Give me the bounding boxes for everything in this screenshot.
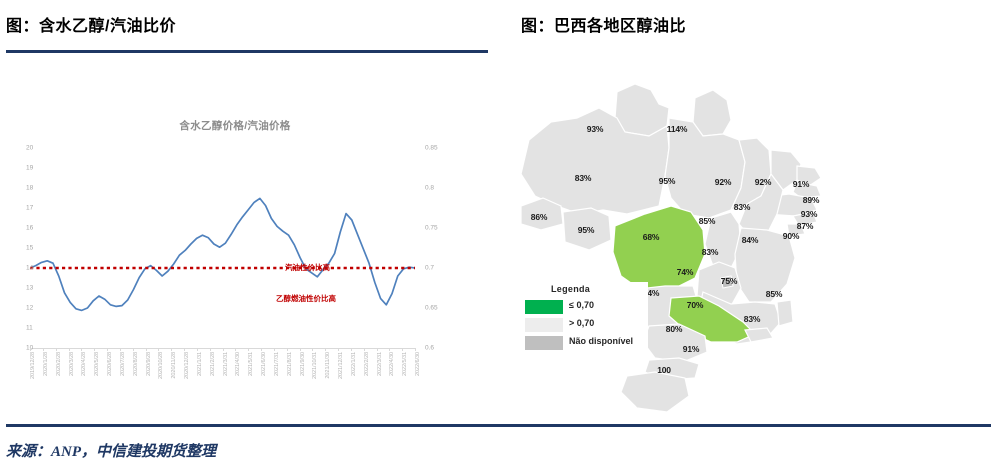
annotation-gasoline-better: 汽油性价比高 xyxy=(285,262,330,273)
legend-swatch-high xyxy=(524,317,564,333)
state-rio-grande-do-sul xyxy=(621,372,689,412)
map-region-value: 86% xyxy=(531,212,547,222)
chart-plot-area xyxy=(30,148,415,348)
chart-x-tick-label: 2022/3/31 xyxy=(377,352,383,376)
state-mato-grosso xyxy=(613,206,705,290)
map-region-value: 114% xyxy=(667,124,687,134)
chart-x-tick-label: 2020/5/28 xyxy=(94,352,100,376)
chart-x-tick-label: 2021/2/28 xyxy=(210,352,216,376)
chart-x-tick-label: 2020/10/28 xyxy=(158,352,164,379)
chart-x-tick-label: 2021/3/31 xyxy=(223,352,229,376)
footer-divider xyxy=(6,424,991,427)
map-region-value: 92% xyxy=(755,177,771,187)
chart-x-tick-label: 2021/10/31 xyxy=(312,352,318,379)
chart-x-tickmark xyxy=(377,348,378,351)
chart-line-svg xyxy=(30,148,415,348)
chart-x-tick-label: 2020/9/28 xyxy=(146,352,152,376)
map-region-value: 83% xyxy=(575,173,591,183)
chart-x-tick-label: 2022/4/30 xyxy=(389,352,395,376)
chart-x-tickmark xyxy=(235,348,236,351)
line-chart: 含水乙醇价格/汽油价格 20191817161514131211100.850.… xyxy=(0,118,470,408)
chart-title: 含水乙醇价格/汽油价格 xyxy=(0,118,470,133)
chart-x-tickmark xyxy=(287,348,288,351)
chart-x-tickmark xyxy=(197,348,198,351)
map-region-value: 80% xyxy=(666,324,682,334)
legend-title: Legenda xyxy=(551,284,590,294)
chart-x-tick-label: 2020/4/28 xyxy=(81,352,87,376)
chart-x-tick-label: 2021/9/30 xyxy=(300,352,306,376)
chart-x-tickmark xyxy=(223,348,224,351)
chart-x-tick-label: 2022/2/28 xyxy=(364,352,370,376)
chart-x-tickmark xyxy=(402,348,403,351)
chart-x-tick-label: 2021/5/31 xyxy=(248,352,254,376)
legend-label-low: ≤ 0,70 xyxy=(569,300,594,310)
annotation-ethanol-better: 乙醇燃油性价比高 xyxy=(276,293,336,304)
chart-x-tickmark xyxy=(274,348,275,351)
map-region-value: 85% xyxy=(766,289,782,299)
chart-x-tickmark xyxy=(158,348,159,351)
left-figure-panel: 图：含水乙醇/汽油比价 含水乙醇价格/汽油价格 2019181716151413… xyxy=(0,0,499,430)
map-region-value: 91% xyxy=(793,179,809,189)
chart-x-tickmark xyxy=(184,348,185,351)
map-region-value: 93% xyxy=(801,209,817,219)
right-figure-title: 图：巴西各地区醇油比 xyxy=(521,12,686,36)
chart-x-tickmark xyxy=(300,348,301,351)
chart-x-tick-label: 2020/1/28 xyxy=(43,352,49,376)
chart-x-tick-label: 2019/12/28 xyxy=(30,352,36,379)
chart-secondary-y-tick-label: 0.65 xyxy=(425,305,438,312)
map-region-value: 74% xyxy=(677,267,693,277)
left-title-divider xyxy=(6,50,488,53)
state-espirito-santo xyxy=(777,300,793,326)
chart-x-tickmark xyxy=(351,348,352,351)
chart-x-tick-label: 2021/12/31 xyxy=(338,352,344,379)
chart-x-tick-label: 2021/8/31 xyxy=(287,352,293,376)
chart-x-tickmark xyxy=(30,348,31,351)
chart-x-tickmark xyxy=(133,348,134,351)
chart-series-line xyxy=(30,198,415,310)
chart-x-tickmark xyxy=(248,348,249,351)
chart-x-tick-label: 2021/7/31 xyxy=(274,352,280,376)
chart-x-tick-label: 2020/7/28 xyxy=(120,352,126,376)
chart-x-tickmark xyxy=(364,348,365,351)
map-region-value: 89% xyxy=(803,195,819,205)
map-region-value: 75% xyxy=(721,276,737,286)
chart-secondary-y-tick-label: 0.8 xyxy=(425,185,434,192)
chart-secondary-y-tick-label: 0.6 xyxy=(425,345,434,352)
chart-x-tickmark xyxy=(81,348,82,351)
map-region-value: 95% xyxy=(578,225,594,235)
chart-x-tickmark xyxy=(325,348,326,351)
chart-x-tick-label: 2020/6/28 xyxy=(107,352,113,376)
chart-x-tick-label: 2020/12/28 xyxy=(184,352,190,379)
map-region-value: 85% xyxy=(699,216,715,226)
chart-x-tickmark xyxy=(43,348,44,351)
source-note: 来源：ANP，中信建投期货整理 xyxy=(6,440,216,461)
legend-swatch-na xyxy=(524,335,564,351)
chart-x-tick-label: 2022/6/30 xyxy=(415,352,421,376)
map-legend: Legenda ≤ 0,70 > 0,70 Não disponível xyxy=(520,282,648,354)
map-region-value: 83% xyxy=(744,314,760,324)
map-region-value: 90% xyxy=(783,231,799,241)
chart-x-tickmark xyxy=(94,348,95,351)
chart-x-tick-label: 2022/5/31 xyxy=(402,352,408,376)
chart-x-tickmark xyxy=(389,348,390,351)
left-figure-title: 图：含水乙醇/汽油比价 xyxy=(6,12,176,36)
map-region-value: 83% xyxy=(734,202,750,212)
chart-x-tick-label: 2021/6/30 xyxy=(261,352,267,376)
map-region-value: 92% xyxy=(715,177,731,187)
brazil-map-svg xyxy=(499,78,998,418)
chart-x-tickmark xyxy=(171,348,172,351)
map-region-value: 84% xyxy=(742,235,758,245)
chart-x-tickmark xyxy=(69,348,70,351)
legend-label-na: Não disponível xyxy=(569,336,633,346)
map-region-value: 70% xyxy=(687,300,703,310)
legend-label-high: > 0,70 xyxy=(569,318,594,328)
legend-swatch-low xyxy=(524,299,564,315)
chart-x-tickmark xyxy=(120,348,121,351)
chart-x-tickmark xyxy=(261,348,262,351)
chart-x-tick-label: 2021/1/31 xyxy=(197,352,203,376)
chart-x-tickmark xyxy=(56,348,57,351)
chart-x-tickmark xyxy=(210,348,211,351)
map-region-value: 68% xyxy=(643,232,659,242)
map-region-value: 95% xyxy=(659,176,675,186)
chart-x-tick-label: 2020/2/28 xyxy=(56,352,62,376)
chart-x-tick-label: 2020/11/28 xyxy=(171,352,177,379)
chart-x-tickmark xyxy=(312,348,313,351)
map-region-value: 83% xyxy=(702,247,718,257)
chart-x-tickmark xyxy=(338,348,339,351)
map-region-value: 100 xyxy=(657,365,671,375)
chart-secondary-y-tick-label: 0.7 xyxy=(425,265,434,272)
chart-x-tick-label: 2020/3/28 xyxy=(69,352,75,376)
chart-secondary-y-tick-label: 0.75 xyxy=(425,225,438,232)
chart-x-tickmark xyxy=(107,348,108,351)
map-region-value: 91% xyxy=(683,344,699,354)
map-region-value: 87% xyxy=(797,221,813,231)
map-region-value: 93% xyxy=(587,124,603,134)
chart-x-tickmark xyxy=(146,348,147,351)
chart-x-tick-label: 2021/4/30 xyxy=(235,352,241,376)
chart-x-tickmark xyxy=(415,348,416,351)
chart-x-tick-label: 2021/11/30 xyxy=(325,352,331,379)
chart-secondary-y-tick-label: 0.85 xyxy=(425,145,438,152)
chart-x-tick-label: 2022/1/31 xyxy=(351,352,357,376)
brazil-map: 93%114%83%95%92%92%91%89%83%93%87%86%95%… xyxy=(499,78,998,418)
chart-x-tick-label: 2020/8/28 xyxy=(133,352,139,376)
